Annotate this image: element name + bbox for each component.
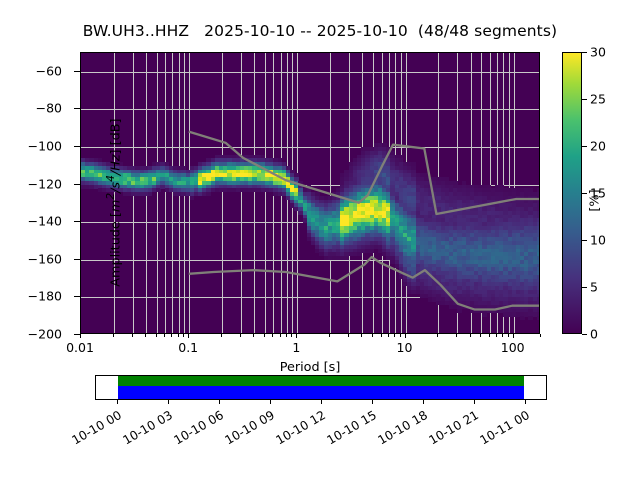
x-tick-minor <box>145 334 146 337</box>
x-tick-minor <box>348 334 349 337</box>
x-tick-minor <box>437 334 438 337</box>
x-tick-major <box>405 334 406 338</box>
colorbar-tick-label: 30 <box>590 45 606 60</box>
x-tick-minor <box>400 334 401 337</box>
x-tick-minor <box>470 334 471 337</box>
x-tick-major <box>80 334 81 338</box>
x-tick-minor <box>361 334 362 337</box>
x-tick-minor <box>540 334 541 337</box>
y-tick <box>74 108 80 109</box>
x-tick-minor <box>164 334 165 337</box>
x-tick-label: 10 <box>397 340 413 355</box>
x-tick-major <box>188 334 189 338</box>
x-tick-major <box>296 334 297 338</box>
x-tick-minor <box>286 334 287 337</box>
y-tick-label: −180 <box>28 289 62 304</box>
x-tick-minor <box>171 334 172 337</box>
x-tick-minor <box>183 334 184 337</box>
colorbar-tick <box>582 287 587 288</box>
coverage-tick <box>474 400 475 404</box>
x-tick-minor <box>113 334 114 337</box>
y-tick-label: −120 <box>28 176 62 191</box>
coverage-tick <box>372 400 373 404</box>
y-tick <box>74 71 80 72</box>
coverage-axes[interactable] <box>95 375 547 400</box>
nlnm-curve <box>189 257 539 309</box>
x-tick-minor <box>132 334 133 337</box>
x-tick-minor <box>480 334 481 337</box>
colorbar-label: [%] <box>588 171 603 231</box>
x-tick-minor <box>456 334 457 337</box>
coverage-tick <box>270 400 271 404</box>
ppsd-axes[interactable] <box>80 52 540 334</box>
coverage-tick <box>423 400 424 404</box>
times-used-bar <box>118 376 525 386</box>
y-tick-label: −100 <box>28 139 62 154</box>
x-tick-minor <box>291 334 292 337</box>
coverage-tick <box>117 400 118 404</box>
x-tick-minor <box>489 334 490 337</box>
x-tick-label: 1 <box>292 340 300 355</box>
colorbar-tick-label: 0 <box>590 327 598 342</box>
x-tick-minor <box>178 334 179 337</box>
x-tick-minor <box>496 334 497 337</box>
y-tick <box>74 296 80 297</box>
x-tick-minor <box>381 334 382 337</box>
noise-model-curves <box>81 53 539 333</box>
colorbar-tick-label: 5 <box>590 280 598 295</box>
x-tick-minor <box>156 334 157 337</box>
x-tick-minor <box>388 334 389 337</box>
y-tick <box>74 184 80 185</box>
coverage-tick <box>321 400 322 404</box>
nhnm-curve <box>189 132 539 214</box>
x-tick-minor <box>329 334 330 337</box>
x-tick-minor <box>280 334 281 337</box>
y-tick-label: −200 <box>28 327 62 342</box>
y-tick-label: −60 <box>36 63 62 78</box>
x-axis-label: Period [s] <box>80 360 540 375</box>
colorbar <box>562 52 582 334</box>
x-tick-minor <box>394 334 395 337</box>
y-tick <box>74 146 80 147</box>
x-tick-major <box>513 334 514 338</box>
colorbar-tick-label: 10 <box>590 233 606 248</box>
x-tick-minor <box>240 334 241 337</box>
times-data-bar <box>118 386 525 399</box>
x-tick-label: 100 <box>501 340 525 355</box>
colorbar-tick <box>582 52 587 53</box>
x-tick-minor <box>253 334 254 337</box>
x-tick-minor <box>372 334 373 337</box>
y-tick <box>74 221 80 222</box>
y-axis-label: Amplitude [m2/s4/Hz] [dB] <box>104 83 123 323</box>
x-tick-label: 0.1 <box>178 340 198 355</box>
y-tick-label: −80 <box>36 101 62 116</box>
x-tick-label: 0.01 <box>66 340 94 355</box>
x-tick-minor <box>502 334 503 337</box>
colorbar-tick-label: 25 <box>590 92 606 107</box>
y-tick-label: −160 <box>28 251 62 266</box>
colorbar-tick <box>582 193 587 194</box>
y-tick-label: −140 <box>28 214 62 229</box>
x-tick-minor <box>508 334 509 337</box>
plot-title: BW.UH3..HHZ 2025-10-10 -- 2025-10-10 (48… <box>0 22 640 40</box>
colorbar-tick <box>582 99 587 100</box>
x-tick-minor <box>272 334 273 337</box>
y-tick <box>74 259 80 260</box>
coverage-tick <box>525 400 526 404</box>
x-tick-minor <box>264 334 265 337</box>
coverage-tick <box>219 400 220 404</box>
colorbar-tick <box>582 146 587 147</box>
colorbar-tick <box>582 334 587 335</box>
x-tick-minor <box>221 334 222 337</box>
colorbar-tick-label: 20 <box>590 139 606 154</box>
colorbar-tick <box>582 240 587 241</box>
coverage-tick <box>168 400 169 404</box>
